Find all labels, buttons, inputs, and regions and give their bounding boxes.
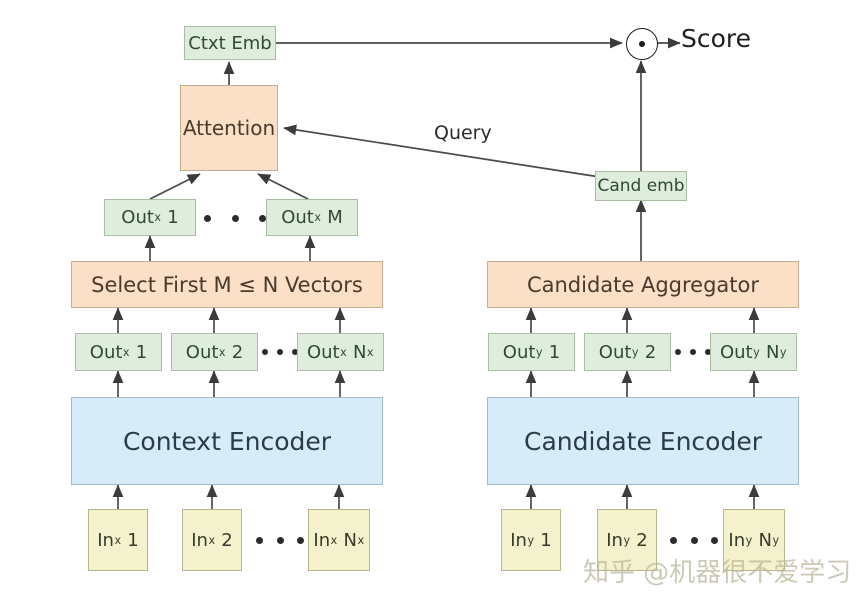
out-y-1-index: 1 [549,342,560,363]
ellipsis-in-y [670,536,718,544]
out-x-2-index: 2 [232,342,243,363]
edge-outxm-to-attention [258,174,308,199]
in-y-1-base: In [510,530,527,551]
cand-emb-label: Cand emb [597,176,684,196]
out-x-1-base: Out [90,342,123,363]
in-x-1-sub: x [114,534,122,547]
out-x-1-top-base: Out [121,207,154,228]
out-y-2-index: 2 [645,342,656,363]
out-x-1-top-index: 1 [167,207,178,228]
node-out-y-ny[interactable]: Outy Ny [710,333,797,371]
out-x-nx-index-sub: x [366,346,374,359]
out-x-1-sub: x [122,346,130,359]
node-out-x-1-top[interactable]: Outx 1 [104,199,196,236]
in-x-nx-sub: x [330,534,338,547]
node-out-x-nx[interactable]: Outx Nx [297,333,384,371]
node-out-x-2[interactable]: Outx 2 [171,333,258,371]
out-x-nx-base: Out [307,342,340,363]
query-edge-label: Query [434,122,492,144]
dot-product-icon [639,41,645,47]
node-select-first[interactable]: Select First M ≤ N Vectors [71,261,383,308]
score-dot-product-node[interactable] [626,28,658,60]
in-x-2-base: In [191,530,208,551]
attention-label: Attention [183,116,275,140]
in-y-ny-index: N [758,530,771,551]
dot-2 [691,537,698,544]
ellipsis-out-y [675,348,711,356]
out-x-2-base: Out [186,342,219,363]
dot-2 [277,349,283,355]
out-x-1-top-sub: x [154,211,162,224]
out-x-2-sub: x [218,346,226,359]
ellipsis-in-x [256,536,304,544]
node-out-x-m-top[interactable]: Outx M [266,199,358,236]
in-x-nx-index: N [343,530,356,551]
out-y-1-sub: y [535,346,543,359]
dot-1 [204,215,211,222]
watermark-label: 知乎 @机器很不爱学习 [583,552,851,589]
in-y-ny-index-sub: y [772,534,780,547]
score-label: Score [681,24,751,53]
out-y-ny-index: N [766,342,779,363]
in-y-2-index: 2 [636,530,647,551]
node-in-x-2[interactable]: Inx 2 [182,509,242,571]
node-context-encoder[interactable]: Context Encoder [71,397,383,485]
in-x-1-base: In [97,530,114,551]
in-x-nx-index-sub: x [357,534,365,547]
dot-3 [259,215,266,222]
dot-1 [256,537,263,544]
ctxt-emb-label: Ctxt Emb [188,33,271,54]
out-x-nx-index: N [353,342,366,363]
node-cand-emb[interactable]: Cand emb [595,171,687,201]
node-out-y-1[interactable]: Outy 1 [488,333,575,371]
dot-1 [262,349,268,355]
select-first-label: Select First M ≤ N Vectors [91,273,363,297]
ellipsis-out-x-top [204,213,266,223]
out-y-1-base: Out [503,342,536,363]
candidate-aggregator-label: Candidate Aggregator [527,273,759,297]
in-y-1-index: 1 [540,530,551,551]
in-y-ny-sub: y [745,534,753,547]
in-x-2-index: 2 [221,530,232,551]
in-x-1-index: 1 [127,530,138,551]
node-candidate-encoder[interactable]: Candidate Encoder [487,397,799,485]
dot-2 [277,537,284,544]
out-x-m-top-index: M [327,207,343,228]
dot-3 [711,537,718,544]
node-candidate-aggregator[interactable]: Candidate Aggregator [487,261,799,308]
out-y-ny-base: Out [720,342,753,363]
out-x-m-top-base: Out [281,207,314,228]
context-encoder-label: Context Encoder [123,427,331,456]
out-x-nx-sub: x [340,346,348,359]
dot-1 [675,349,681,355]
edge-outx1-to-attention [150,174,200,199]
node-in-x-nx[interactable]: Inx Nx [308,509,370,571]
node-in-x-1[interactable]: Inx 1 [88,509,148,571]
in-y-2-base: In [606,530,623,551]
in-x-nx-base: In [313,530,330,551]
in-x-2-sub: x [208,534,216,547]
dot-2 [232,215,239,222]
in-y-2-sub: y [623,534,631,547]
dot-2 [690,349,696,355]
node-attention[interactable]: Attention [180,85,278,171]
out-y-2-base: Out [599,342,632,363]
out-x-m-top-sub: x [314,211,322,224]
node-in-y-1[interactable]: Iny 1 [501,509,561,571]
ellipsis-out-x [262,348,298,356]
out-y-ny-sub: y [753,346,761,359]
dot-1 [670,537,677,544]
node-ctxt-emb[interactable]: Ctxt Emb [184,26,276,60]
dot-3 [297,537,304,544]
out-y-ny-index-sub: y [779,346,787,359]
diagram-canvas: Ctxt Emb Score Attention Query Cand emb … [0,0,867,599]
in-y-ny-base: In [728,530,745,551]
in-y-1-sub: y [527,534,535,547]
candidate-encoder-label: Candidate Encoder [524,427,762,456]
node-out-x-1[interactable]: Outx 1 [75,333,162,371]
node-out-y-2[interactable]: Outy 2 [584,333,671,371]
out-y-2-sub: y [631,346,639,359]
out-x-1-index: 1 [136,342,147,363]
